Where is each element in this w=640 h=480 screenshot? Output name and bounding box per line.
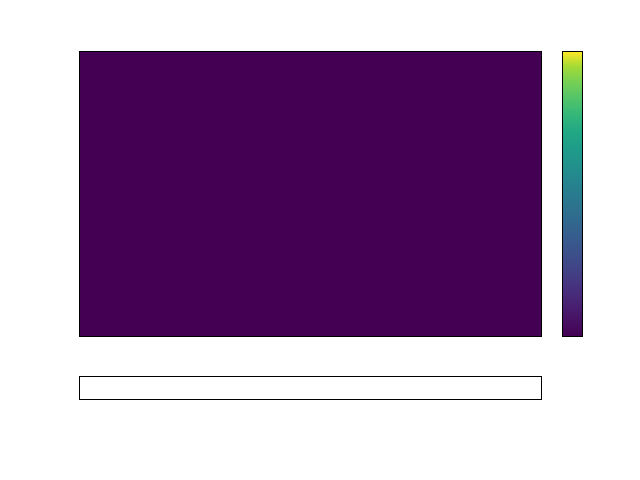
timeline-bars[interactable] [80, 377, 541, 399]
timeline-axes[interactable] [79, 376, 542, 400]
ppsd-plot-area [80, 52, 541, 336]
colorbar [562, 51, 583, 337]
ppsd-axes [79, 51, 542, 337]
